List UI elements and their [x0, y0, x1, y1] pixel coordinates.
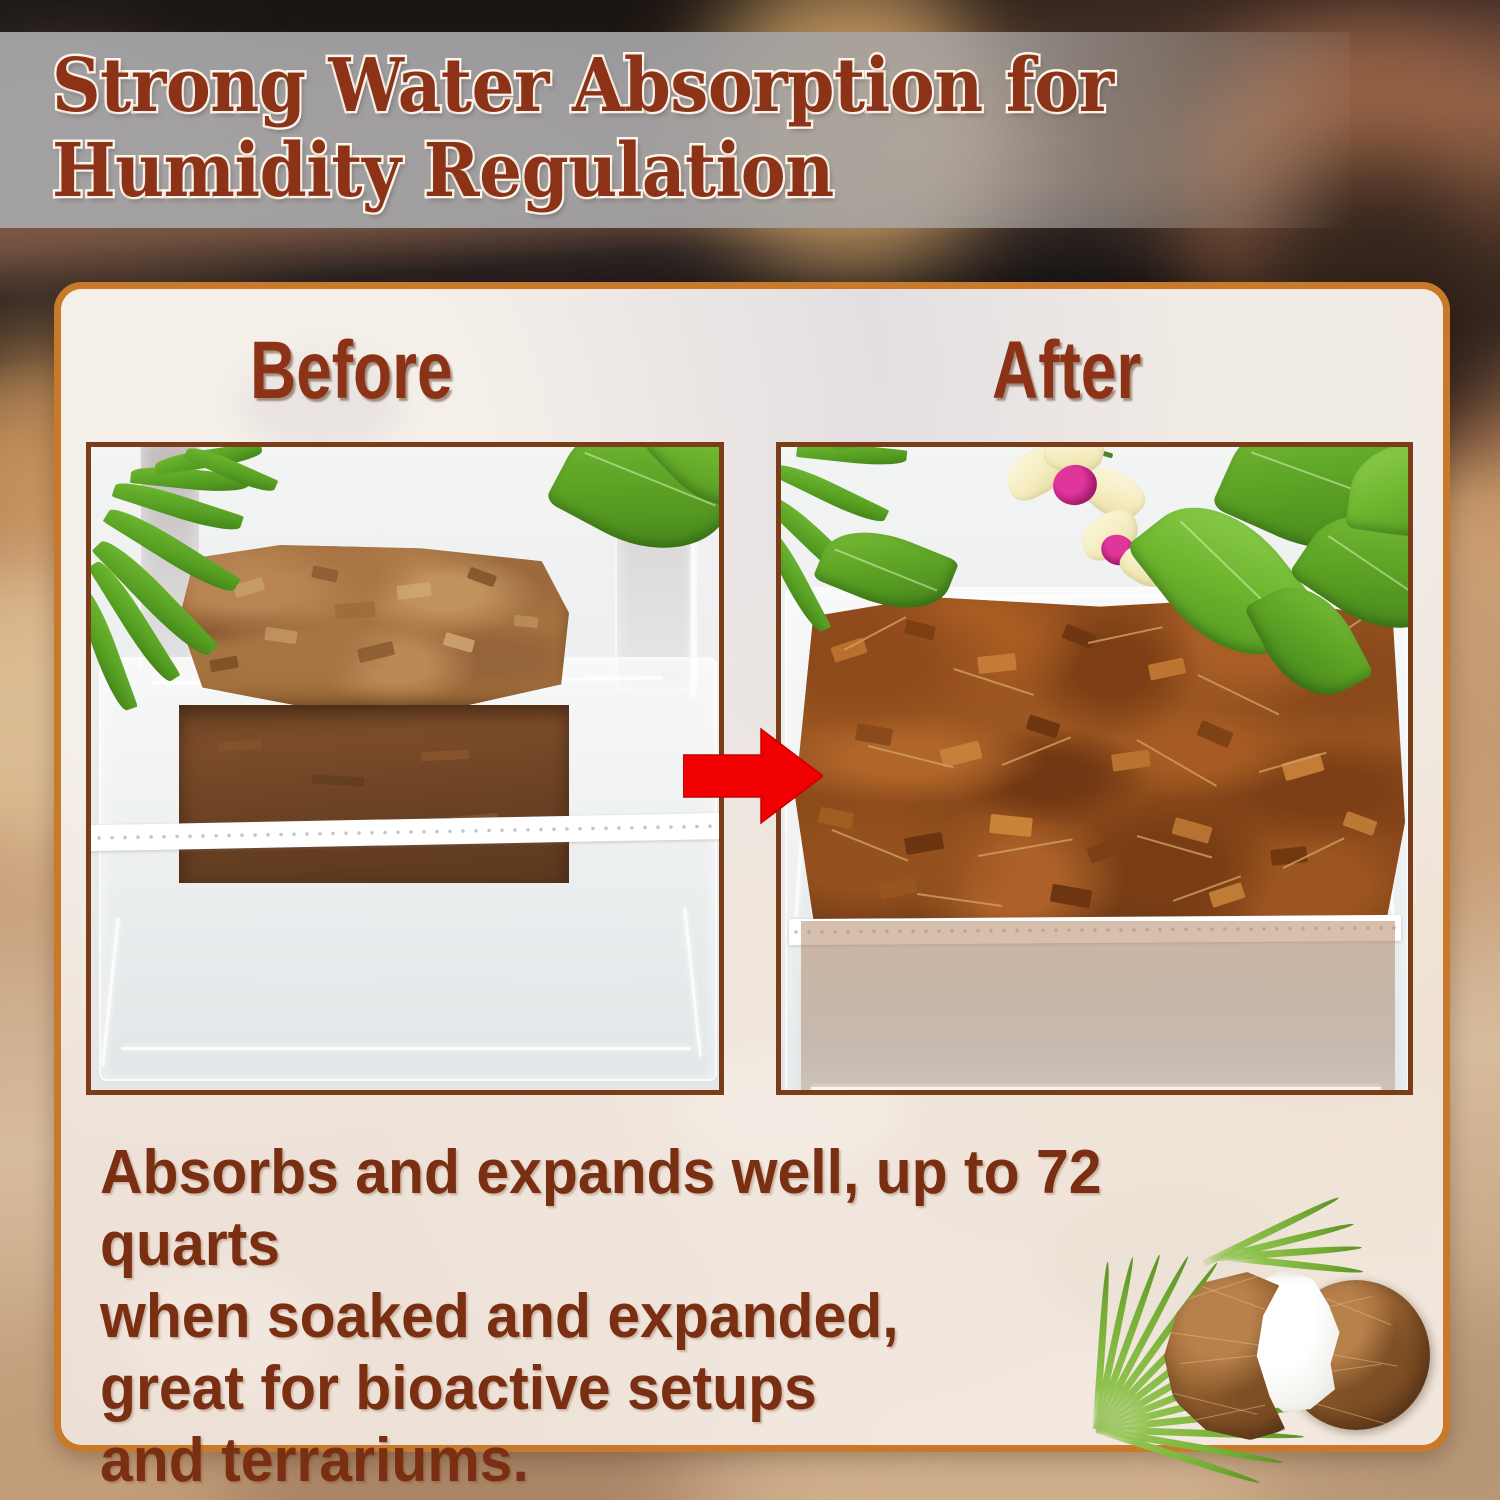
coconut-with-palm-leaves-icon — [1082, 1218, 1448, 1452]
coir-brick-top-surface — [179, 545, 569, 707]
page-title: Strong Water Absorption for Humidity Reg… — [52, 44, 1226, 214]
after-photo[interactable] — [776, 442, 1413, 1095]
before-label: Before — [250, 330, 453, 412]
substrate-through-glass — [801, 921, 1395, 1090]
right-arrow-icon — [683, 727, 823, 825]
coir-brick-front-face — [179, 705, 569, 883]
title-banner: Strong Water Absorption for Humidity Reg… — [0, 32, 1350, 228]
after-photo-content — [781, 447, 1408, 1090]
after-label: After — [992, 330, 1141, 412]
infographic-canvas: Strong Water Absorption for Humidity Reg… — [0, 0, 1500, 1500]
before-photo-content — [91, 447, 719, 1090]
terrarium-base-edge — [811, 1087, 1381, 1090]
before-photo[interactable] — [86, 442, 724, 1095]
terrarium-base-edge — [121, 1047, 691, 1050]
